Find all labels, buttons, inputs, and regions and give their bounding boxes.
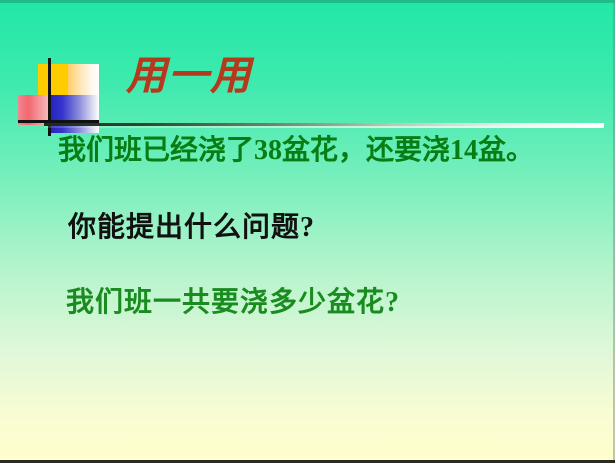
prompt-line: 你能提出什么问题? xyxy=(68,211,315,245)
statement-line: 我们班已经浇了38盆花，还要浇14盆。 xyxy=(58,134,534,168)
logo-orange-gradient-square xyxy=(68,64,99,95)
logo-yellow-square xyxy=(38,64,68,95)
title-underline-highlight xyxy=(44,126,604,128)
presentation-slide: 用一用 我们班已经浇了38盆花，还要浇14盆。 你能提出什么问题? 我们班一共要… xyxy=(0,0,615,463)
question-line: 我们班一共要浇多少盆花? xyxy=(66,286,400,320)
slide-top-edge xyxy=(0,0,615,3)
slide-title: 用一用 xyxy=(126,53,252,99)
